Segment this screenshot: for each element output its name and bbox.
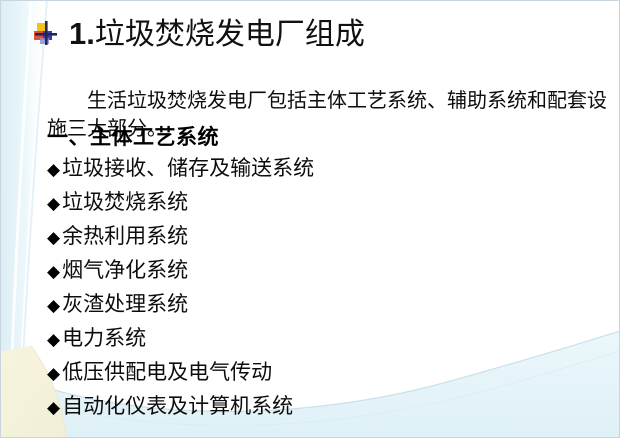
list-item-label: 余热利用系统	[62, 219, 188, 253]
slide-canvas: 1.垃圾焚烧发电厂组成 生活垃圾焚烧发电厂包括主体工艺系统、辅助系统和配套设施三…	[0, 0, 620, 438]
list-item: ◆ 垃圾接收、储存及输送系统	[47, 151, 587, 185]
diamond-bullet-icon: ◆	[47, 187, 60, 221]
list-item-label: 垃圾焚烧系统	[62, 185, 188, 219]
diamond-bullet-icon: ◆	[47, 255, 60, 289]
diamond-bullet-icon: ◆	[47, 221, 60, 255]
list-item: ◆ 低压供配电及电气传动	[47, 355, 587, 389]
list-item: ◆ 余热利用系统	[47, 219, 587, 253]
list-item: ◆ 自动化仪表及计算机系统	[47, 389, 587, 423]
list-item: ◆ 垃圾焚烧系统	[47, 185, 587, 219]
list-item-label: 自动化仪表及计算机系统	[62, 389, 293, 423]
left-curve-band-outer	[1, 1, 35, 437]
list-item-label: 烟气净化系统	[62, 253, 188, 287]
list-item: ◆ 烟气净化系统	[47, 253, 587, 287]
list-item-label: 电力系统	[62, 321, 146, 355]
left-curve-highlight	[9, 1, 31, 437]
diamond-bullet-icon: ◆	[47, 289, 60, 323]
title-label: 垃圾焚烧发电厂组成	[95, 18, 365, 51]
diamond-bullet-icon: ◆	[47, 323, 60, 357]
title-number: 1.	[69, 16, 95, 51]
left-curve-band-inner	[3, 1, 45, 437]
left-curve-edge	[19, 1, 47, 437]
list-item-label: 低压供配电及电气传动	[62, 355, 272, 389]
list-item: ◆ 灰渣处理系统	[47, 287, 587, 321]
title-text: 1.垃圾焚烧发电厂组成	[69, 17, 365, 52]
list-item-label: 垃圾接收、储存及输送系统	[62, 151, 314, 185]
diamond-bullet-icon: ◆	[47, 153, 60, 187]
bullet-list: ◆ 垃圾接收、储存及输送系统 ◆ 垃圾焚烧系统 ◆ 余热利用系统 ◆ 烟气净化系…	[47, 151, 587, 423]
section-heading: 一、主体工艺系统	[47, 125, 219, 151]
diamond-bullet-icon: ◆	[47, 391, 60, 425]
list-item-label: 灰渣处理系统	[62, 287, 188, 321]
four-color-cross-icon	[31, 19, 61, 49]
slide-title: 1.垃圾焚烧发电厂组成	[31, 12, 365, 56]
diamond-bullet-icon: ◆	[47, 357, 60, 391]
list-item: ◆ 电力系统	[47, 321, 587, 355]
